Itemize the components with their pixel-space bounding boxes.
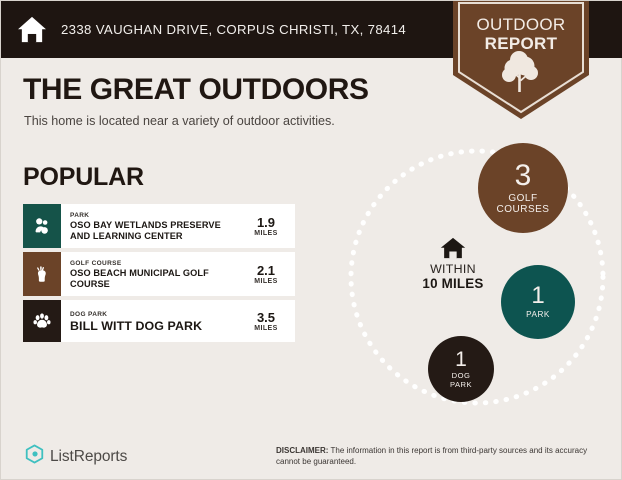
list-item-name: BILL WITT DOG PARK: [70, 319, 202, 333]
badge-text: OUTDOOR REPORT: [453, 15, 589, 53]
badge-line-1: OUTDOOR: [453, 15, 589, 34]
infographic-center: WITHIN 10 MILES: [399, 237, 507, 291]
bubble-label-line-1: PARK: [526, 311, 550, 320]
listreports-logo[interactable]: ListReports: [25, 444, 127, 469]
list-item-distance: 1.9 MILES: [241, 204, 295, 248]
disclaimer: DISCLAIMER: The information in this repo…: [276, 445, 606, 467]
list-item-name: OSO BEACH MUNICIPAL GOLF COURSE: [70, 268, 241, 290]
bubble-count: 3: [515, 161, 532, 191]
golf-icon: [23, 252, 61, 296]
bubble-count: 1: [455, 349, 467, 370]
distance-value: 2.1: [257, 264, 275, 278]
bubble-park[interactable]: 1 PARK: [501, 265, 575, 339]
disclaimer-label: DISCLAIMER:: [276, 446, 328, 455]
list-item-body: GOLF COURSE OSO BEACH MUNICIPAL GOLF COU…: [61, 252, 241, 296]
list-item-name: OSO BAY WETLANDS PRESERVE AND LEARNING C…: [70, 220, 241, 242]
list-item[interactable]: DOG PARK BILL WITT DOG PARK 3.5 MILES: [23, 300, 295, 342]
popular-list: PARK OSO BAY WETLANDS PRESERVE AND LEARN…: [23, 204, 295, 346]
badge-line-2: REPORT: [453, 34, 589, 53]
bubble-label-line-2: PARK: [450, 381, 472, 389]
list-item-body: DOG PARK BILL WITT DOG PARK: [61, 300, 241, 342]
outdoor-report-page: 2338 VAUGHAN DRIVE, CORPUS CHRISTI, TX, …: [0, 0, 622, 480]
page-subtitle: This home is located near a variety of o…: [24, 114, 335, 128]
bubble-golf-courses[interactable]: 3 GOLF COURSES: [478, 143, 568, 233]
home-icon: [399, 237, 507, 259]
list-item[interactable]: GOLF COURSE OSO BEACH MUNICIPAL GOLF COU…: [23, 252, 295, 296]
list-item-distance: 2.1 MILES: [241, 252, 295, 296]
list-item-category: DOG PARK: [70, 310, 202, 319]
distance-unit: MILES: [254, 230, 277, 237]
park-icon: [23, 204, 61, 248]
list-item[interactable]: PARK OSO BAY WETLANDS PRESERVE AND LEARN…: [23, 204, 295, 248]
list-item-body: PARK OSO BAY WETLANDS PRESERVE AND LEARN…: [61, 204, 241, 248]
distance-value: 1.9: [257, 216, 275, 230]
outdoor-infographic: 3 GOLF COURSES 1 PARK 1 DOG PARK WITHIN …: [337, 137, 622, 427]
bubble-label-line-2: COURSES: [497, 205, 550, 216]
listreports-logo-icon: [25, 444, 44, 469]
list-item-category: PARK: [70, 211, 241, 220]
list-item-distance: 3.5 MILES: [241, 300, 295, 342]
distance-unit: MILES: [254, 325, 277, 332]
page-title: THE GREAT OUTDOORS: [23, 73, 369, 107]
bubble-count: 1: [531, 284, 544, 308]
center-line-2: 10 MILES: [399, 276, 507, 291]
popular-heading: POPULAR: [23, 163, 144, 192]
bubble-label-line-1: GOLF: [508, 194, 537, 205]
center-line-1: WITHIN: [399, 262, 507, 276]
paw-icon: [23, 300, 61, 342]
distance-unit: MILES: [254, 278, 277, 285]
bubble-dog-park[interactable]: 1 DOG PARK: [428, 336, 494, 402]
header-address: 2338 VAUGHAN DRIVE, CORPUS CHRISTI, TX, …: [61, 22, 406, 37]
home-icon: [17, 16, 47, 43]
distance-value: 3.5: [257, 311, 275, 325]
listreports-logo-text: ListReports: [50, 448, 127, 466]
list-item-category: GOLF COURSE: [70, 259, 241, 268]
outdoor-report-badge: OUTDOOR REPORT: [453, 1, 589, 119]
